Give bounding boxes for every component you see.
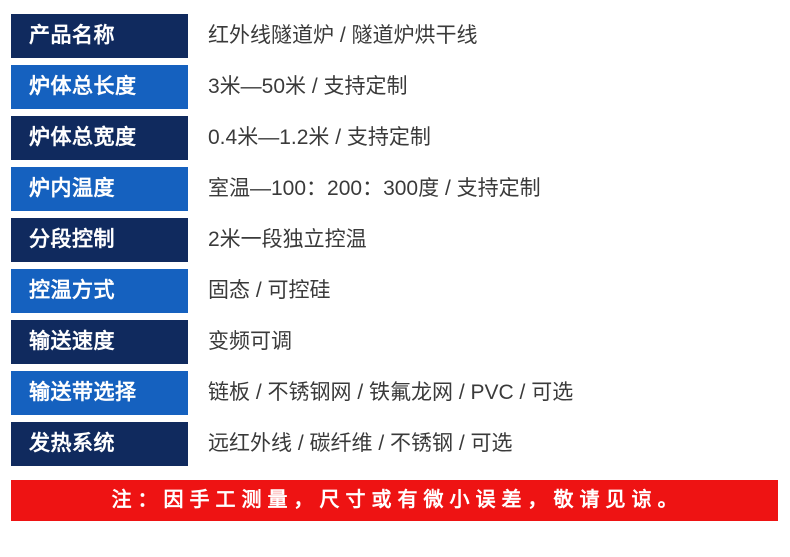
spec-row: 控温方式固态 / 可控硅 (0, 269, 790, 313)
spec-value: 室温—100：200：300度 / 支持定制 (188, 167, 790, 211)
spec-label: 发热系统 (11, 422, 188, 466)
spec-value: 固态 / 可控硅 (188, 269, 790, 313)
spec-value: 0.4米—1.2米 / 支持定制 (188, 116, 790, 160)
spec-sheet: 产品名称红外线隧道炉 / 隧道炉烘干线炉体总长度3米—50米 / 支持定制炉体总… (0, 0, 790, 557)
spec-row: 炉体总宽度0.4米—1.2米 / 支持定制 (0, 116, 790, 160)
spec-row: 输送速度变频可调 (0, 320, 790, 364)
spec-table: 产品名称红外线隧道炉 / 隧道炉烘干线炉体总长度3米—50米 / 支持定制炉体总… (0, 14, 790, 466)
spec-value: 远红外线 / 碳纤维 / 不锈钢 / 可选 (188, 422, 790, 466)
spec-row: 发热系统远红外线 / 碳纤维 / 不锈钢 / 可选 (0, 422, 790, 466)
spec-row: 分段控制2米一段独立控温 (0, 218, 790, 262)
spec-row: 炉内温度室温—100：200：300度 / 支持定制 (0, 167, 790, 211)
spec-label: 产品名称 (11, 14, 188, 58)
spec-value: 3米—50米 / 支持定制 (188, 65, 790, 109)
spec-label: 输送带选择 (11, 371, 188, 415)
spec-label: 分段控制 (11, 218, 188, 262)
spec-value: 链板 / 不锈钢网 / 铁氟龙网 / PVC / 可选 (188, 371, 790, 415)
measurement-note-banner: 注：因手工测量，尺寸或有微小误差，敬请见谅。 (11, 480, 778, 521)
spec-value: 红外线隧道炉 / 隧道炉烘干线 (188, 14, 790, 58)
spec-value: 2米一段独立控温 (188, 218, 790, 262)
spec-label: 炉体总宽度 (11, 116, 188, 160)
spec-label: 控温方式 (11, 269, 188, 313)
spec-row: 输送带选择链板 / 不锈钢网 / 铁氟龙网 / PVC / 可选 (0, 371, 790, 415)
spec-label: 炉内温度 (11, 167, 188, 211)
spec-row: 炉体总长度3米—50米 / 支持定制 (0, 65, 790, 109)
spec-row: 产品名称红外线隧道炉 / 隧道炉烘干线 (0, 14, 790, 58)
spec-label: 炉体总长度 (11, 65, 188, 109)
spec-value: 变频可调 (188, 320, 790, 364)
spec-label: 输送速度 (11, 320, 188, 364)
